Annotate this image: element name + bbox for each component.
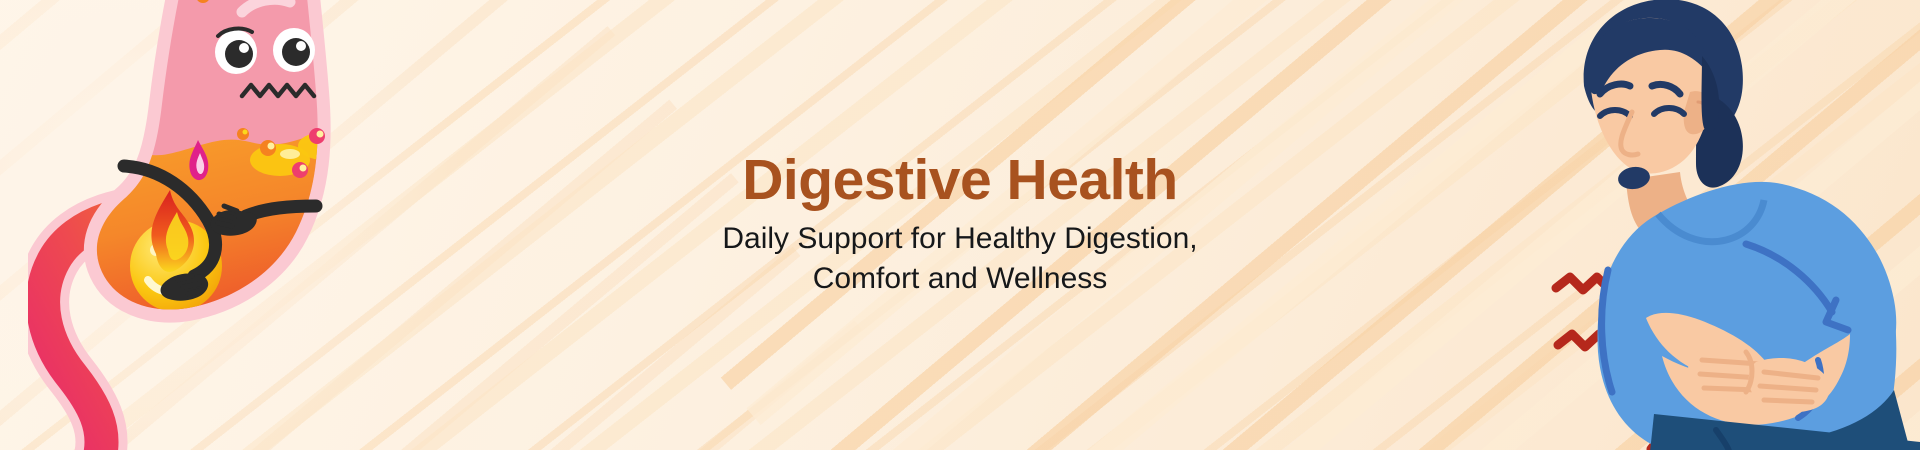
stomach-eye-glint-right [296,41,306,51]
acid-highlight [280,149,300,159]
woman-illustration [1550,0,1920,450]
stomach-illustration [28,0,388,450]
stomach-pupil-left [225,40,253,68]
digestive-health-banner: Digestive Health Daily Support for Healt… [0,0,1920,450]
stomach-eye-glint-left [239,43,249,53]
stomach-pupil-right [282,38,310,66]
